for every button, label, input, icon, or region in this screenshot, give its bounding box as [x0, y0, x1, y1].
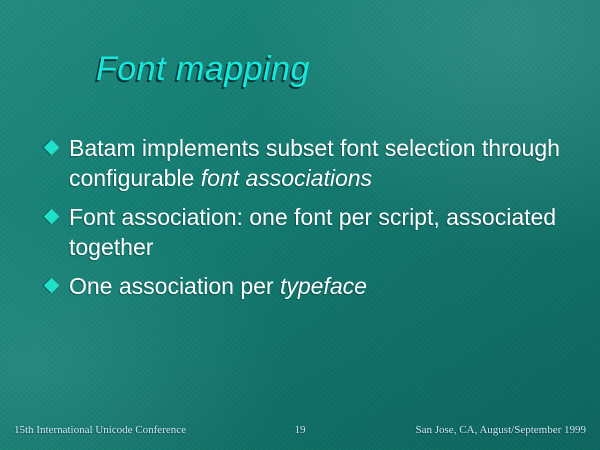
bullet-plain-text: One association per [69, 273, 280, 299]
diamond-bullet-icon [44, 278, 60, 294]
bullet-emphasis-text: font associations [201, 165, 372, 191]
bullet-item: One association per typeface [46, 271, 566, 301]
bullet-text: Font association: one font per script, a… [69, 202, 566, 262]
slide-title: Font mapping [96, 50, 310, 89]
bullet-item: Font association: one font per script, a… [46, 202, 566, 262]
bullet-text: Batam implements subset font selection t… [69, 133, 566, 193]
bullet-text: One association per typeface [69, 271, 566, 301]
diamond-bullet-icon [44, 209, 60, 225]
bullet-emphasis-text: typeface [280, 273, 367, 299]
bullet-plain-text: Font association: one font per script, a… [69, 204, 556, 260]
diamond-bullet-icon [44, 140, 60, 156]
presentation-slide: Font mapping Batam implements subset fon… [0, 0, 600, 450]
footer-location-date: San Jose, CA, August/September 1999 [416, 424, 587, 436]
slide-body-bullet-list: Batam implements subset font selection t… [46, 133, 566, 310]
bullet-item: Batam implements subset font selection t… [46, 133, 566, 193]
